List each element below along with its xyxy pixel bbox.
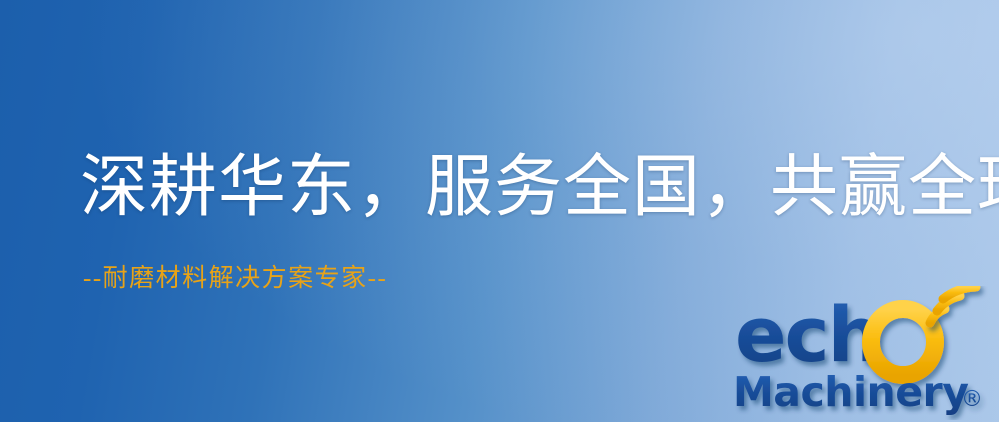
- logo-tagline: Machinery ®: [733, 368, 983, 416]
- logo-tagline-text: Machinery: [733, 368, 968, 416]
- logo-wordmark-ech: ech: [735, 290, 880, 379]
- logo-signal-waves-icon: [930, 287, 976, 323]
- promo-banner: 深耕华东，服务全国，共赢全球 --耐磨材料解决方案专家--: [0, 0, 999, 422]
- banner-headline: 深耕华东，服务全国，共赢全球: [80, 151, 999, 224]
- logo-registered-mark: ®: [961, 387, 983, 412]
- logo-letter-o-ring: [871, 309, 935, 375]
- logo-wordmark-ech-text: ech: [735, 290, 880, 379]
- echo-machinery-logo[interactable]: ech Machinery ®: [731, 286, 993, 420]
- banner-subtitle: --耐磨材料解决方案专家--: [83, 264, 387, 294]
